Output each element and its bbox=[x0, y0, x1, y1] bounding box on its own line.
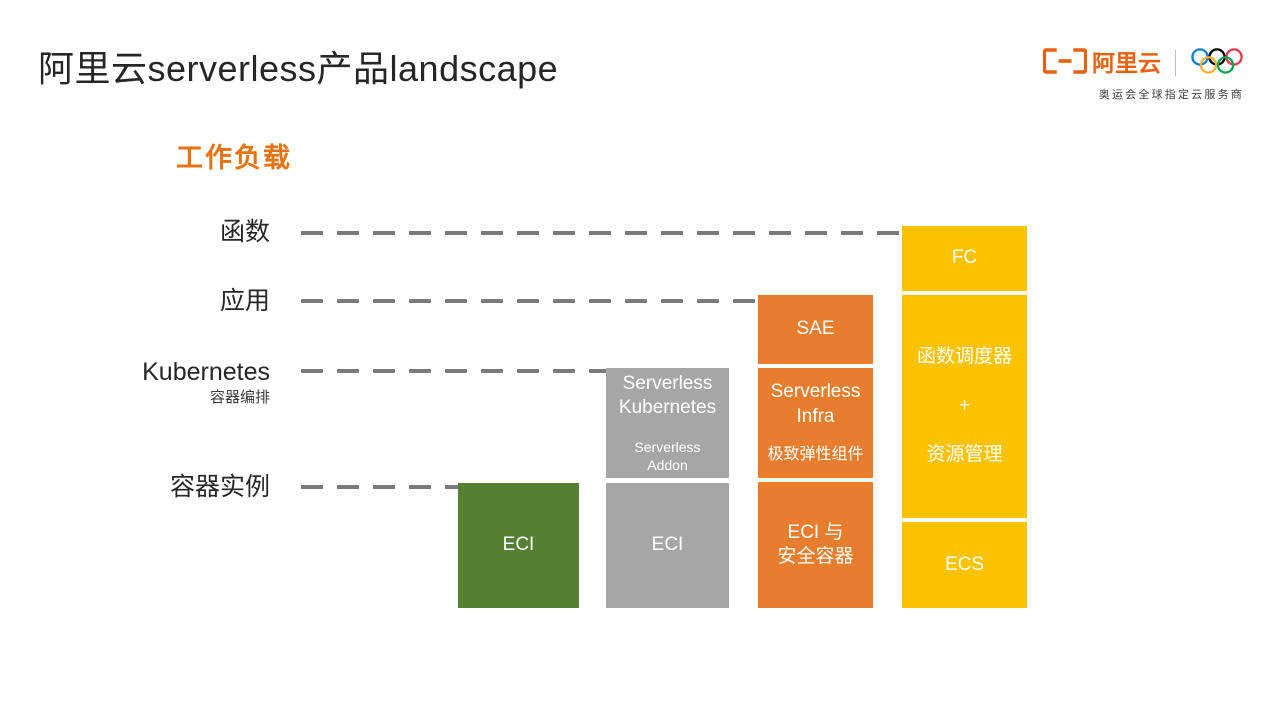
box-label: Serverless Infra bbox=[771, 380, 861, 429]
row-label-application: 应用 bbox=[220, 288, 270, 316]
lane-application bbox=[301, 299, 761, 303]
box-label: ECS bbox=[945, 553, 984, 577]
box-label-line-3: 资源管理 bbox=[926, 444, 1002, 467]
lane-container-instance bbox=[301, 485, 461, 489]
box-sublabel: Serverless Addon bbox=[634, 438, 700, 474]
row-label-function: 函数 bbox=[220, 219, 270, 247]
box-ecs[interactable]: ECS bbox=[902, 522, 1027, 608]
box-label: ECI 与 安全容器 bbox=[777, 521, 853, 570]
box-label: Serverless Kubernetes bbox=[619, 372, 716, 421]
box-label-line-2: + bbox=[959, 395, 970, 418]
box-label-line-1: 函数调度器 bbox=[917, 346, 1012, 369]
box-label: SAE bbox=[796, 317, 834, 341]
box-sublabel: 极致弹性组件 bbox=[767, 445, 863, 466]
box-eci-gray[interactable]: ECI bbox=[606, 483, 729, 608]
lane-function bbox=[301, 231, 905, 235]
box-serverless-kubernetes[interactable]: Serverless Kubernetes Serverless Addon bbox=[606, 368, 729, 478]
serverless-landscape-diagram: 函数 应用 Kubernetes 容器编排 容器实例 ECI Serverles… bbox=[0, 0, 1280, 720]
box-eci-secure-container[interactable]: ECI 与 安全容器 bbox=[758, 482, 873, 608]
box-serverless-infra[interactable]: Serverless Infra 极致弹性组件 bbox=[758, 368, 873, 478]
lane-kubernetes bbox=[301, 369, 609, 373]
row-label-container-instance: 容器实例 bbox=[170, 474, 270, 502]
box-sae[interactable]: SAE bbox=[758, 295, 873, 364]
box-label: ECI bbox=[503, 533, 535, 557]
box-label: ECI bbox=[652, 533, 684, 557]
row-label-kubernetes: Kubernetes 容器编排 bbox=[142, 359, 270, 409]
box-label: FC bbox=[952, 246, 977, 270]
box-fc[interactable]: FC bbox=[902, 226, 1027, 291]
box-eci-green[interactable]: ECI bbox=[458, 483, 579, 608]
box-scheduler-resource[interactable]: 函数调度器 + 资源管理 bbox=[902, 295, 1027, 518]
